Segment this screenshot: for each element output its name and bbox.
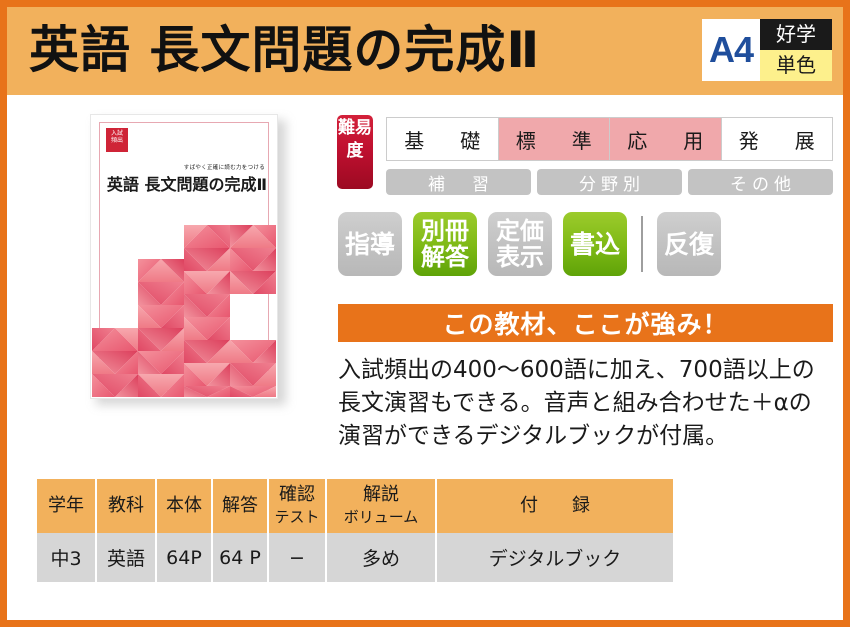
col-header-kyouka: 教科	[97, 479, 155, 533]
category-pill-hoshuu[interactable]: 補 習	[386, 169, 531, 195]
col-header-kaitou: 解答	[213, 479, 267, 533]
strength-line-3: 演習ができるデジタルブックが付属。	[338, 420, 838, 453]
feature-badge-kakikomi[interactable]: 書込	[563, 212, 627, 276]
strength-line-2: 長文演習もできる。音声と組み合わせた＋αの	[338, 387, 838, 420]
catalog-page: 英語 長文問題の完成Ⅱ A4 好学 単色 入試 頻出 すばやく正確に読む力をつけ…	[0, 0, 850, 627]
cover-title: 英語 長文問題の完成Ⅱ	[91, 171, 267, 195]
category-pill-sonota[interactable]: その他	[688, 169, 833, 195]
difficulty-label: 難易度	[337, 115, 373, 189]
feature-label-bessatsu-kaitou: 別冊解答	[421, 218, 469, 270]
feature-badge-teika-hyouji[interactable]: 定価表示	[488, 212, 552, 276]
header-badge-group: A4 好学 単色	[702, 19, 832, 83]
feature-label-shidou: 指導	[345, 231, 395, 258]
feature-badge-bessatsu-kaitou[interactable]: 別冊解答	[413, 212, 477, 276]
col-header-hontai: 本体	[157, 479, 211, 533]
strength-line-1: 入試頻出の400〜600語に加え、700語以上の	[338, 354, 838, 387]
col-header-furoku: 付 録	[437, 479, 673, 533]
cover-geometric-artwork	[92, 225, 276, 397]
page-title: 英語 長文問題の完成Ⅱ	[29, 17, 540, 83]
feature-label-kakikomi: 書込	[570, 231, 620, 258]
feature-divider	[641, 216, 643, 272]
header-band: 英語 長文問題の完成Ⅱ A4 好学 単色	[7, 7, 843, 95]
cover-tagline: すばやく正確に読む力をつける	[91, 163, 265, 171]
color-mode-badge: 単色	[760, 50, 832, 81]
cover-logo-badge: 入試 頻出	[106, 128, 128, 152]
col-header-kakunin-test: 確認 テスト	[269, 479, 325, 533]
strength-description: 入試頻出の400〜600語に加え、700語以上の 長文演習もできる。音声と組み合…	[338, 354, 838, 453]
feature-badge-row: 指導 別冊解答 定価表示 書込 反復	[338, 212, 721, 276]
cell-hontai: 64P	[157, 533, 211, 582]
strength-banner: この教材、ここが強み！	[338, 304, 833, 342]
table-header-row: 学年 教科 本体 解答 確認 テスト 解説 ボリューム 付 録	[37, 479, 673, 533]
difficulty-level-ouyou[interactable]: 応 用	[610, 118, 722, 160]
difficulty-level-hyoujun[interactable]: 標 準	[499, 118, 611, 160]
publisher-badge: 好学	[760, 19, 832, 50]
cell-kyouka: 英語	[97, 533, 155, 582]
feature-badge-hanpuku[interactable]: 反復	[657, 212, 721, 276]
cell-kakunin-test: −	[269, 533, 325, 582]
category-pill-bunyabetsu[interactable]: 分野別	[537, 169, 682, 195]
brand-badge-stack: 好学 単色	[760, 19, 832, 81]
cell-gakunen: 中3	[37, 533, 95, 582]
feature-badge-shidou[interactable]: 指導	[338, 212, 402, 276]
book-cover-image: 入試 頻出 すばやく正確に読む力をつける 英語 長文問題の完成Ⅱ	[90, 114, 286, 405]
cell-kaitou: 64 P	[213, 533, 267, 582]
difficulty-level-kiso[interactable]: 基 礎	[387, 118, 499, 160]
table-row: 中3 英語 64P 64 P − 多め デジタルブック	[37, 533, 673, 582]
cell-furoku: デジタルブック	[437, 533, 673, 582]
spec-table: 学年 教科 本体 解答 確認 テスト 解説 ボリューム 付 録 中3 英語 64…	[35, 479, 675, 582]
paper-size-badge: A4	[702, 19, 760, 81]
difficulty-level-hatten[interactable]: 発 展	[722, 118, 833, 160]
col-header-kaisetsu-volume: 解説 ボリューム	[327, 479, 435, 533]
feature-label-teika-hyouji: 定価表示	[496, 218, 544, 270]
cover-logo-line1: 入試	[111, 130, 123, 137]
difficulty-level-row: 基 礎 標 準 応 用 発 展	[386, 117, 833, 161]
cell-kaisetsu-volume: 多め	[327, 533, 435, 582]
cover-logo-line2: 頻出	[111, 137, 123, 144]
feature-label-hanpuku: 反復	[664, 231, 714, 258]
category-pill-row: 補 習 分野別 その他	[386, 169, 833, 195]
col-header-gakunen: 学年	[37, 479, 95, 533]
book-cover: 入試 頻出 すばやく正確に読む力をつける 英語 長文問題の完成Ⅱ	[90, 114, 278, 399]
